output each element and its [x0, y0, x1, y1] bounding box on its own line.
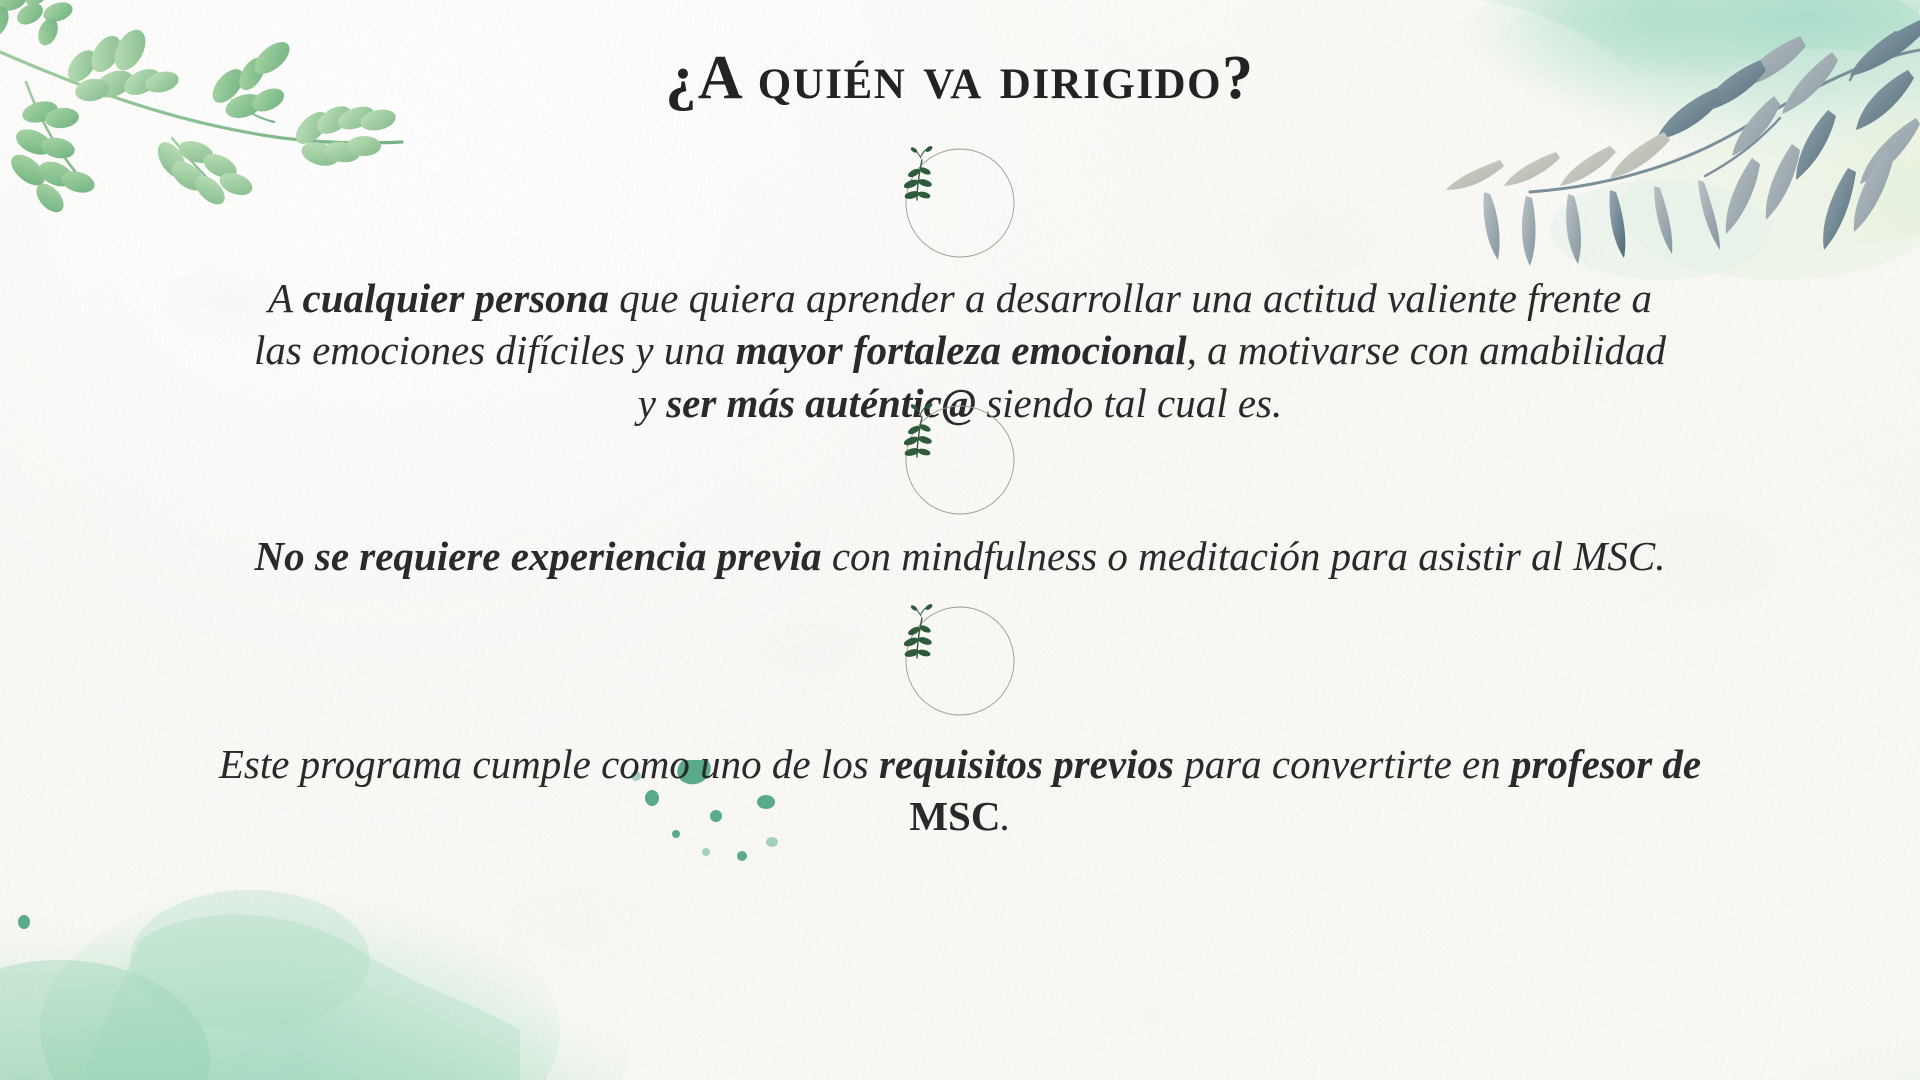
p3-text-3: .: [1000, 793, 1010, 839]
p2-bold-1: No se requiere experiencia previa: [255, 533, 822, 579]
p3-text-2: para convertirte en: [1174, 741, 1511, 787]
paragraph-prerequisite: Este programa cumple como uno de los req…: [180, 738, 1740, 843]
leaf-sprig-circle-icon: [897, 140, 1023, 266]
page-title: ¿A quién va dirigido?: [0, 46, 1920, 111]
p3-text-1: Este programa cumple como uno de los: [219, 741, 879, 787]
slide-canvas: ¿A quién va dirigido?: [0, 0, 1920, 1080]
p1-bold-1: cualquier persona: [303, 275, 609, 321]
p2-text-1: con mindfulness o meditación para asisti…: [822, 533, 1666, 579]
p1-text-1: A: [268, 275, 303, 321]
p3-bold-1: requisitos previos: [879, 741, 1174, 787]
p3-bold-msc: MSC: [909, 793, 1000, 839]
leaf-sprig-circle-icon: [897, 598, 1023, 724]
divider-circle-3: [897, 598, 1023, 724]
p1-bold-2: mayor fortaleza emocional: [736, 327, 1187, 373]
p3-bold-2: profesor de: [1511, 741, 1701, 787]
divider-circle-2: [897, 397, 1023, 523]
divider-circle-1: [897, 140, 1023, 266]
leaf-sprig-circle-icon: [897, 397, 1023, 523]
slide-content: ¿A quién va dirigido?: [0, 0, 1920, 1080]
paragraph-experience: No se requiere experiencia previa con mi…: [220, 530, 1700, 582]
